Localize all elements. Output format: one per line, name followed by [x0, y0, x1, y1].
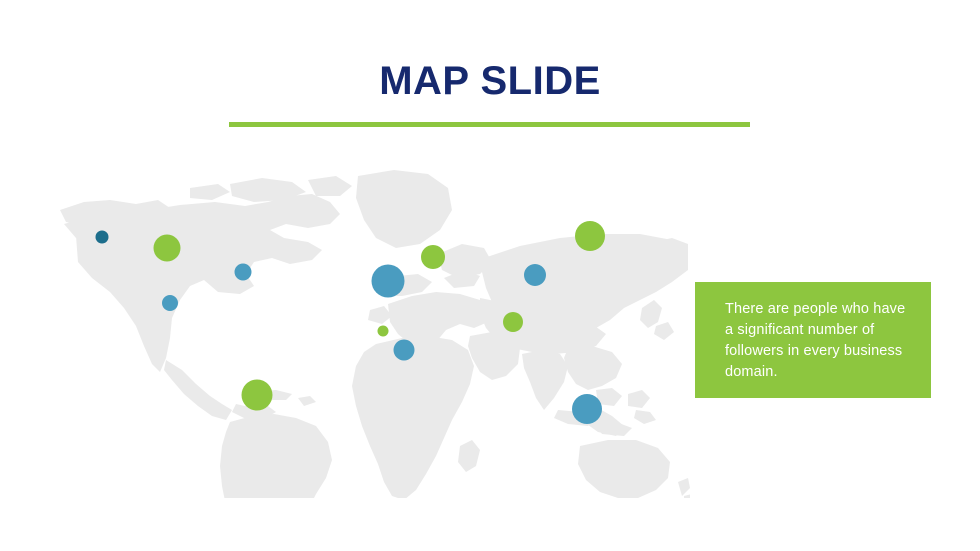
- marker-north-africa[interactable]: [378, 326, 389, 337]
- marker-central-africa[interactable]: [394, 340, 415, 361]
- marker-canada-west[interactable]: [154, 235, 181, 262]
- marker-russia-west[interactable]: [421, 245, 445, 269]
- map-container: [40, 158, 690, 498]
- world-map-graphic: [40, 158, 690, 498]
- page-title: MAP SLIDE: [0, 58, 980, 104]
- marker-central-asia[interactable]: [524, 264, 546, 286]
- title-underline-rule: [229, 122, 750, 127]
- marker-usa-west[interactable]: [162, 295, 178, 311]
- callout-text: There are people who have a significant …: [725, 299, 913, 383]
- marker-australia[interactable]: [572, 394, 602, 424]
- marker-south-america[interactable]: [242, 380, 273, 411]
- marker-alaska[interactable]: [96, 231, 109, 244]
- marker-india[interactable]: [503, 312, 523, 332]
- marker-europe[interactable]: [372, 265, 405, 298]
- marker-siberia-east[interactable]: [575, 221, 605, 251]
- marker-canada-east[interactable]: [235, 264, 252, 281]
- map-slide: MAP SLIDE: [0, 0, 980, 551]
- callout-box: There are people who have a significant …: [695, 282, 931, 398]
